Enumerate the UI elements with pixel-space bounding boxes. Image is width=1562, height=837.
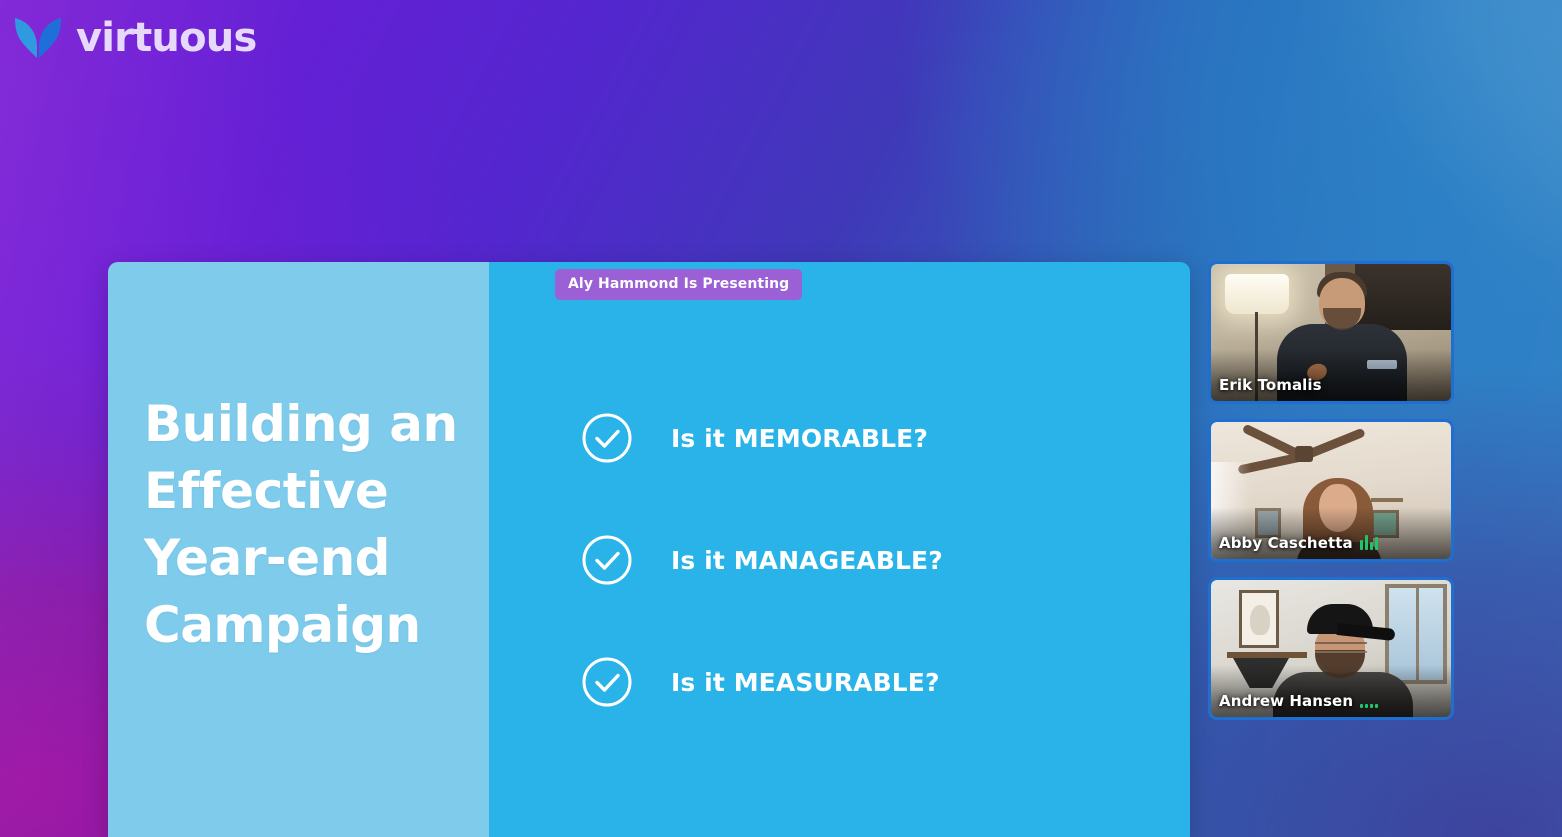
meeting-screen-share-view: virtuous Building an Effective Year-end … <box>0 0 1562 837</box>
participant-name: Andrew Hansen <box>1219 692 1353 710</box>
video-tile-abby-caschetta[interactable]: Abby Caschetta <box>1208 419 1454 562</box>
participant-label: Abby Caschetta <box>1219 534 1378 552</box>
participant-video-strip: Erik Tomalis Abby Caschetta <box>1208 261 1454 720</box>
slide-content-panel: Aly Hammond Is Presenting Is it MEMORABL… <box>489 262 1190 837</box>
audio-level-icon <box>1360 535 1378 552</box>
audio-level-icon <box>1360 693 1378 710</box>
participant-label: Andrew Hansen <box>1219 692 1378 710</box>
slide-checklist: Is it MEMORABLE? Is it MANAGEABLE? Is it… <box>581 412 943 708</box>
slide-title-panel: Building an Effective Year-end Campaign <box>108 262 489 837</box>
shared-slide[interactable]: Building an Effective Year-end Campaign … <box>108 262 1190 837</box>
circle-check-icon <box>581 656 633 708</box>
checklist-item-label: Is it MEASURABLE? <box>671 668 940 697</box>
slide-title: Building an Effective Year-end Campaign <box>144 391 474 659</box>
circle-check-icon <box>581 534 633 586</box>
checklist-item: Is it MEMORABLE? <box>581 412 943 464</box>
video-tile-erik-tomalis[interactable]: Erik Tomalis <box>1208 261 1454 404</box>
participant-name: Erik Tomalis <box>1219 376 1322 394</box>
checklist-item-label: Is it MANAGEABLE? <box>671 546 943 575</box>
checklist-item-label: Is it MEMORABLE? <box>671 424 928 453</box>
brand-logo: virtuous <box>14 16 256 60</box>
participant-name: Abby Caschetta <box>1219 534 1353 552</box>
circle-check-icon <box>581 412 633 464</box>
presenting-badge: Aly Hammond Is Presenting <box>555 269 802 300</box>
participant-label: Erik Tomalis <box>1219 376 1322 394</box>
video-tile-andrew-hansen[interactable]: Andrew Hansen <box>1208 577 1454 720</box>
checklist-item: Is it MEASURABLE? <box>581 656 943 708</box>
virtuous-leaf-mark-icon <box>14 16 62 60</box>
brand-wordmark: virtuous <box>76 18 256 58</box>
checklist-item: Is it MANAGEABLE? <box>581 534 943 586</box>
